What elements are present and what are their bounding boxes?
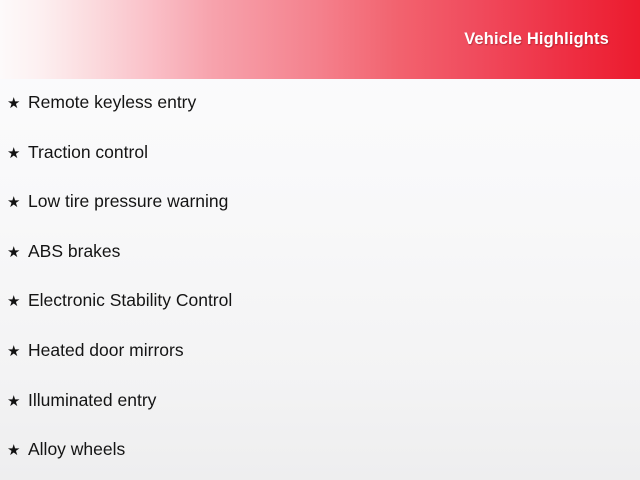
list-item: ★ Alloy wheels <box>0 438 640 480</box>
list-item: ★ Low tire pressure warning <box>0 190 640 240</box>
star-bullet-icon: ★ <box>7 93 21 115</box>
highlight-label: Alloy wheels <box>28 438 125 460</box>
star-bullet-icon: ★ <box>7 341 21 363</box>
header-banner: Vehicle Highlights <box>0 0 640 79</box>
list-item: ★ Illuminated entry <box>0 389 640 439</box>
highlight-label: Illuminated entry <box>28 389 156 411</box>
list-item: ★ Remote keyless entry <box>0 91 640 141</box>
list-item: ★ ABS brakes <box>0 240 640 290</box>
highlight-label: Heated door mirrors <box>28 339 184 361</box>
highlight-label: Low tire pressure warning <box>28 190 228 212</box>
star-bullet-icon: ★ <box>7 440 21 462</box>
list-item: ★ Electronic Stability Control <box>0 289 640 339</box>
star-bullet-icon: ★ <box>7 143 21 165</box>
star-bullet-icon: ★ <box>7 192 21 214</box>
star-bullet-icon: ★ <box>7 391 21 413</box>
highlight-label: Traction control <box>28 141 148 163</box>
vehicle-highlights-slide: Vehicle Highlights ★ Remote keyless entr… <box>0 0 640 480</box>
list-item: ★ Traction control <box>0 141 640 191</box>
highlight-label: Remote keyless entry <box>28 91 196 113</box>
highlight-label: Electronic Stability Control <box>28 289 232 311</box>
highlight-label: ABS brakes <box>28 240 120 262</box>
page-title: Vehicle Highlights <box>464 30 609 49</box>
star-bullet-icon: ★ <box>7 242 21 264</box>
list-item: ★ Heated door mirrors <box>0 339 640 389</box>
vehicle-highlights-list: ★ Remote keyless entry ★ Traction contro… <box>0 91 640 480</box>
star-bullet-icon: ★ <box>7 291 21 313</box>
